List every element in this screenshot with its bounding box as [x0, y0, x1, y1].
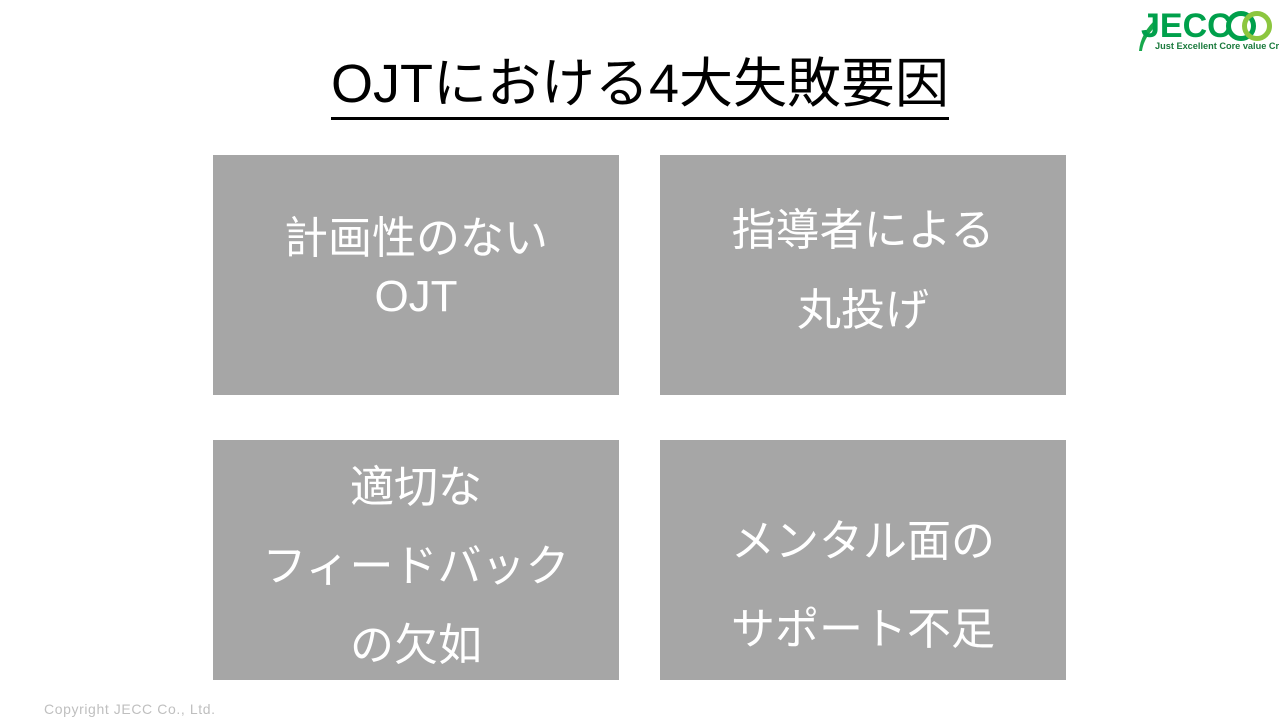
logo-letters-jecc: JECC — [1141, 7, 1232, 45]
factor-box-planning-line-1: 計画性のない — [284, 210, 548, 268]
factor-box-mental-support-line-1: メンタル面の — [731, 498, 995, 586]
logo-ring-lightgreen — [1245, 14, 1270, 39]
factor-box-planning-line-2: OJT — [374, 268, 457, 326]
factor-box-feedback-line-2: フィードバック — [262, 527, 569, 606]
factor-box-instructor-line-1: 指導者による — [732, 191, 995, 271]
factor-box-mental-support: メンタル面の サポート不足 — [660, 440, 1066, 680]
page-title-text: OJTにおける4大失敗要因 — [331, 53, 949, 120]
factor-box-planning: 計画性のない OJT — [213, 155, 619, 395]
logo-tagline-text: Just Excellent Core value Creator — [1155, 41, 1279, 51]
factor-box-feedback-line-1: 適切な — [350, 448, 482, 527]
factor-box-feedback-line-3: の欠如 — [350, 606, 482, 685]
factor-box-feedback: 適切な フィードバック の欠如 — [213, 440, 619, 680]
page-title: OJTにおける4大失敗要因 — [0, 53, 1280, 120]
factor-box-mental-support-line-2: サポート不足 — [731, 586, 995, 674]
footer-copyright: Copyright JECC Co., Ltd. — [44, 700, 216, 718]
factor-box-instructor: 指導者による 丸投げ — [660, 155, 1066, 395]
jecco-logo: JECC Just Excellent Core value Creator — [1133, 4, 1279, 54]
factor-box-instructor-line-2: 丸投げ — [797, 271, 929, 351]
slide-canvas: JECC Just Excellent Core value Creator O… — [0, 0, 1280, 720]
jecco-logo-graphic: JECC Just Excellent Core value Creator — [1133, 4, 1279, 54]
